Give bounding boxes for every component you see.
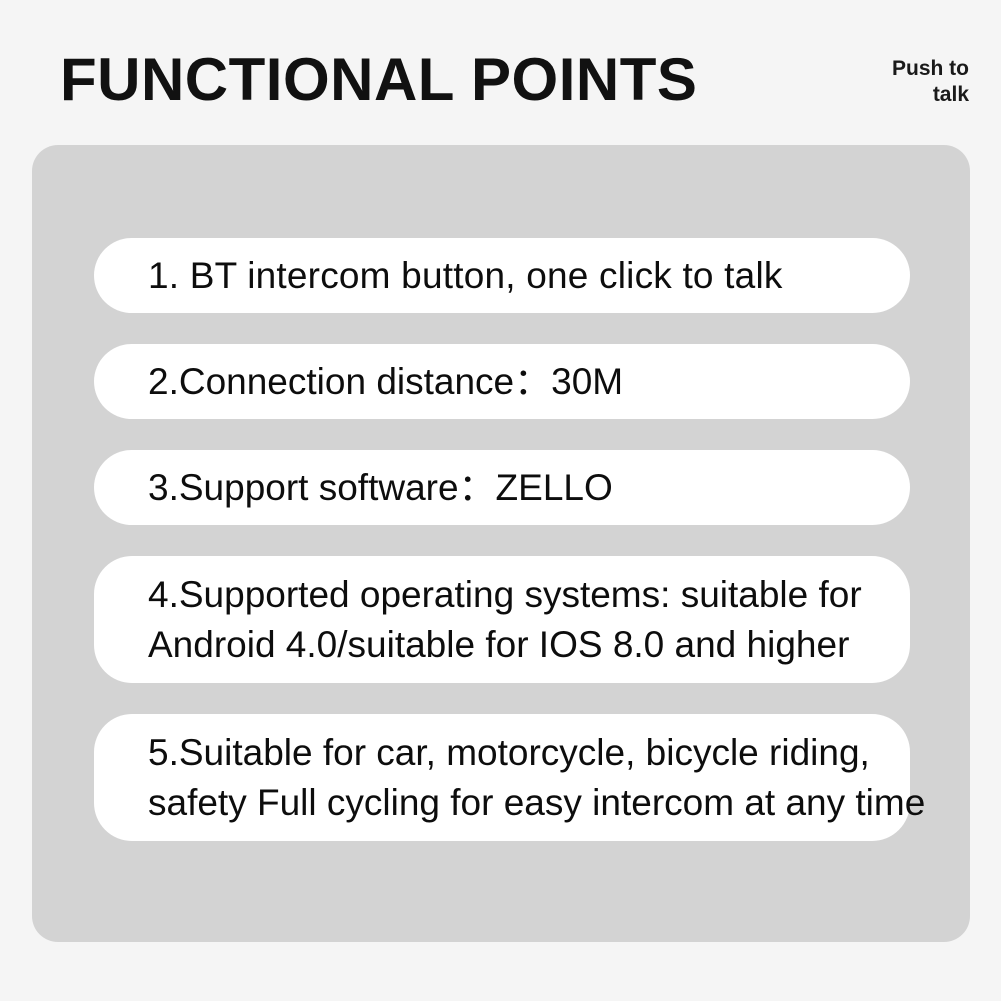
feature-panel: 1. BT intercom button, one click to talk…: [32, 145, 970, 942]
push-to-talk-note-line-1: Push to: [799, 56, 969, 82]
feature-list: 1. BT intercom button, one click to talk…: [94, 238, 910, 841]
feature-text: 3.Support software：ZELLO: [148, 463, 876, 513]
feature-text-line: 4.Supported operating systems: suitable …: [148, 570, 876, 620]
feature-text: 4.Supported operating systems: suitable …: [148, 570, 876, 670]
feature-text: 1. BT intercom button, one click to talk: [148, 251, 876, 301]
push-to-talk-note-line-2: talk: [799, 82, 969, 108]
feature-text: 5.Suitable for car, motorcycle, bicycle …: [148, 728, 876, 828]
feature-text-line: safety Full cycling for easy intercom at…: [148, 778, 876, 828]
page-title: FUNCTIONAL POINTS: [60, 50, 697, 110]
feature-text-line: 3.Support software：ZELLO: [148, 463, 876, 513]
push-to-talk-note: Push to talk: [799, 56, 969, 109]
list-item: 1. BT intercom button, one click to talk: [94, 238, 910, 313]
feature-text-line: 2.Connection distance：30M: [148, 357, 876, 407]
feature-text-line: Android 4.0/suitable for IOS 8.0 and hig…: [148, 620, 876, 670]
feature-text-line: 5.Suitable for car, motorcycle, bicycle …: [148, 728, 876, 778]
list-item: 5.Suitable for car, motorcycle, bicycle …: [94, 714, 910, 841]
list-item: 4.Supported operating systems: suitable …: [94, 556, 910, 683]
feature-text: 2.Connection distance：30M: [148, 357, 876, 407]
feature-text-line: 1. BT intercom button, one click to talk: [148, 251, 876, 301]
list-item: 3.Support software：ZELLO: [94, 450, 910, 525]
page-header: FUNCTIONAL POINTS Push to talk: [0, 0, 1001, 145]
list-item: 2.Connection distance：30M: [94, 344, 910, 419]
